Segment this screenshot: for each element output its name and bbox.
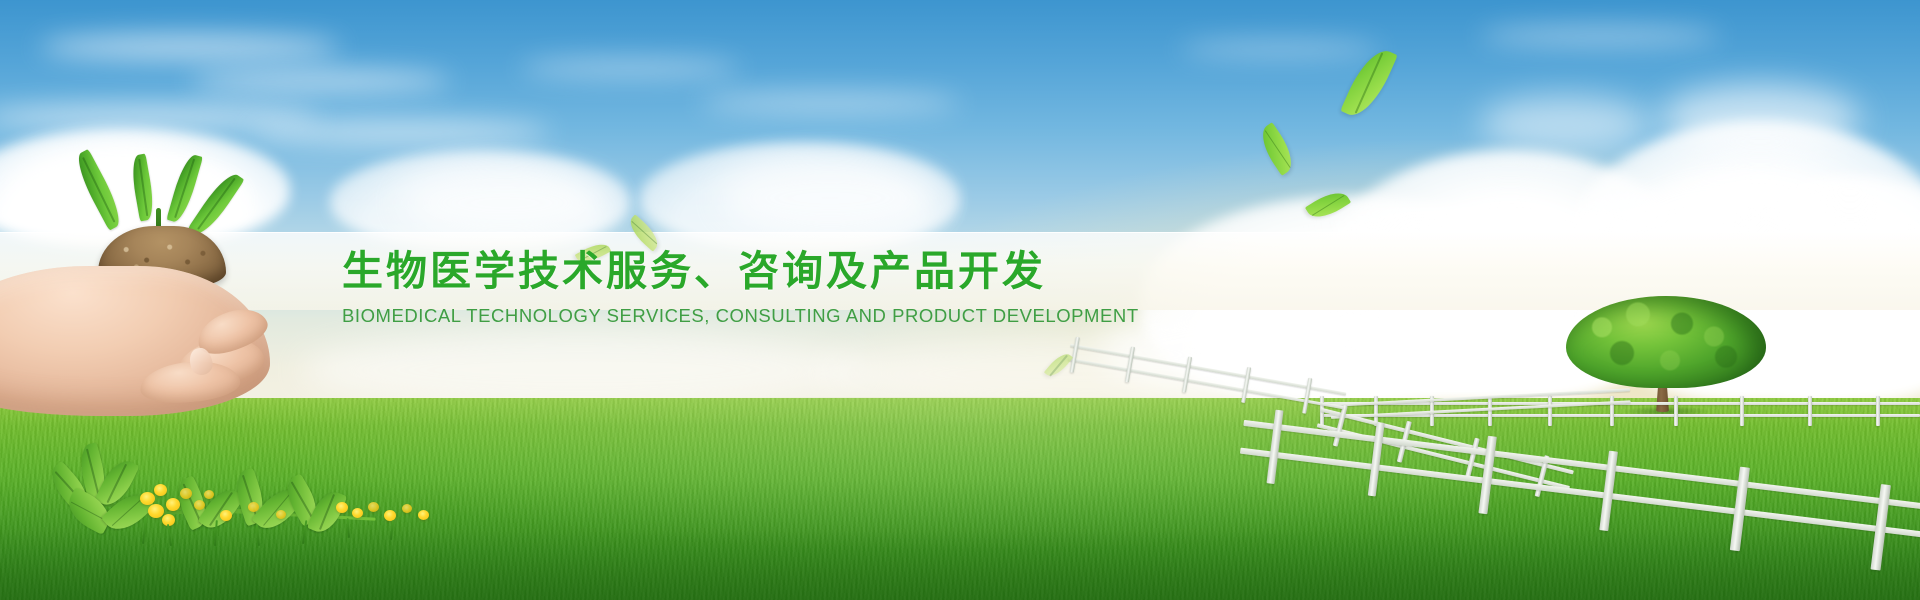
- flower: [276, 510, 286, 519]
- flower: [204, 490, 214, 499]
- canopy-texture: [1566, 296, 1766, 388]
- cloud-wisp: [700, 92, 960, 114]
- tree-canopy: [1566, 296, 1766, 388]
- flower: [402, 504, 412, 513]
- flower: [384, 510, 396, 521]
- grass-blade: [390, 520, 394, 540]
- grass-blade: [214, 520, 217, 546]
- hero-banner: 生物医学技术服务、咨询及产品开发 BIOMEDICAL TECHNOLOGY S…: [0, 0, 1920, 600]
- banner-text-block: 生物医学技术服务、咨询及产品开发 BIOMEDICAL TECHNOLOGY S…: [342, 246, 982, 327]
- fence-post: [1808, 396, 1812, 426]
- grass-blade: [256, 524, 260, 546]
- grass-blade: [347, 518, 350, 538]
- fence-post: [1267, 410, 1284, 484]
- fence-post: [1241, 367, 1251, 403]
- sprout-leaf: [129, 154, 157, 222]
- cloud: [400, 168, 610, 238]
- fence-post: [1070, 337, 1080, 373]
- fence-post: [1302, 378, 1312, 414]
- cloud-wisp: [190, 70, 450, 92]
- grass-blade: [167, 524, 172, 546]
- flower: [418, 510, 429, 520]
- flower: [368, 502, 379, 512]
- hand-with-sprout: [0, 148, 290, 398]
- cloud-wisp: [40, 34, 340, 60]
- flower: [194, 500, 205, 510]
- cloud: [1480, 96, 1650, 152]
- flower: [148, 504, 164, 518]
- cloud-wisp: [1480, 26, 1720, 46]
- fence-post: [1740, 396, 1744, 426]
- sprout-leaf: [71, 149, 127, 231]
- grass-blade: [142, 518, 146, 544]
- cloud-wisp: [250, 120, 550, 144]
- cloud-wisp: [520, 58, 740, 78]
- fence-post: [1674, 396, 1678, 426]
- cloud-wisp: [1180, 40, 1380, 58]
- flower: [154, 484, 167, 496]
- flower: [336, 502, 348, 513]
- cloud: [1660, 84, 1860, 154]
- subheadline-english: BIOMEDICAL TECHNOLOGY SERVICES, CONSULTI…: [342, 305, 982, 327]
- flower: [140, 492, 155, 505]
- headline-chinese: 生物医学技术服务、咨询及产品开发: [342, 246, 982, 296]
- fence-post: [1182, 356, 1192, 392]
- flower-cluster: [52, 440, 452, 570]
- flower: [248, 502, 259, 512]
- flower: [220, 510, 232, 521]
- flower: [352, 508, 363, 518]
- flower: [166, 498, 180, 511]
- fence-post: [1478, 436, 1496, 515]
- cloud: [720, 160, 940, 236]
- fence-post: [1876, 396, 1880, 426]
- flower: [180, 488, 192, 499]
- fence-post: [1125, 346, 1135, 382]
- fence-post: [1368, 422, 1385, 496]
- fence-post: [1599, 451, 1618, 532]
